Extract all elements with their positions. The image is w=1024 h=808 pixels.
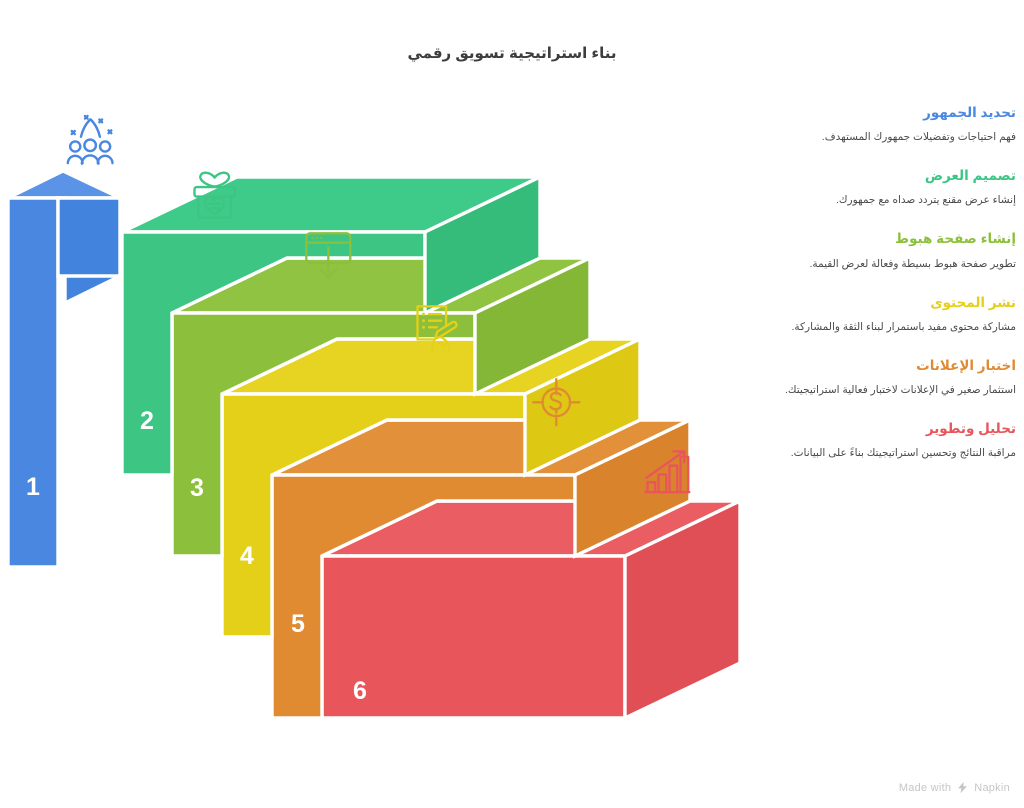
page-title: بناء استراتيجية تسويق رقمي [0, 44, 1024, 62]
bar-step-1-front-lower [8, 198, 58, 567]
bar-step-5-number: 5 [291, 610, 305, 638]
legend-title-1: تحديد الجمهور [758, 104, 1016, 122]
legend-item-5[interactable]: اختبار الإعلانات استثمار صغير في الإعلان… [758, 357, 1016, 399]
legend-description-1: فهم احتياجات وتفضيلات جمهورك المستهدف. [758, 129, 1016, 146]
bar-step-6-front [322, 556, 625, 718]
watermark-brand: Napkin [974, 782, 1010, 794]
legend-description-2: إنشاء عرض مقنع يتردد صداه مع جمهورك. [758, 192, 1016, 209]
bar-step-3-number: 3 [190, 474, 204, 502]
steps-legend-panel: تحديد الجمهور فهم احتياجات وتفضيلات جمهو… [758, 104, 1016, 462]
bar-step-1[interactable]: 1 [8, 171, 120, 567]
legend-description-4: مشاركة محتوى مفيد باستمرار لبناء الثقة و… [758, 319, 1016, 336]
bar-step-6[interactable]: 6 [322, 501, 740, 718]
legend-description-5: استثمار صغير في الإعلانات لاختبار فعالية… [758, 382, 1016, 399]
legend-title-4: نشر المحتوى [758, 294, 1016, 312]
legend-description-3: تطوير صفحة هبوط بسيطة وفعالة لعرض القيمة… [758, 256, 1016, 273]
watermark-prefix: Made with [899, 782, 951, 794]
legend-title-5: اختبار الإعلانات [758, 357, 1016, 375]
legend-item-1[interactable]: تحديد الجمهور فهم احتياجات وتفضيلات جمهو… [758, 104, 1016, 146]
audience-people-icon [68, 116, 113, 164]
napkin-watermark[interactable]: Made with Napkin [899, 781, 1010, 794]
legend-title-2: تصميم العرض [758, 167, 1016, 185]
legend-item-6[interactable]: تحليل وتطوير مراقبة النتائج وتحسين استرا… [758, 420, 1016, 462]
legend-item-2[interactable]: تصميم العرض إنشاء عرض مقنع يتردد صداه مع… [758, 167, 1016, 209]
infographic-canvas: بناء استراتيجية تسويق رقمي 6 5 [0, 0, 1024, 808]
legend-item-3[interactable]: إنشاء صفحة هبوط تطوير صفحة هبوط بسيطة وف… [758, 230, 1016, 272]
legend-description-6: مراقبة النتائج وتحسين استراتيجيتك بناءً … [758, 445, 1016, 462]
bar-step-6-number: 6 [353, 677, 367, 705]
napkin-logo-icon [956, 781, 969, 794]
legend-title-6: تحليل وتطوير [758, 420, 1016, 438]
legend-item-4[interactable]: نشر المحتوى مشاركة محتوى مفيد باستمرار ل… [758, 294, 1016, 336]
bar-step-1-side-extend [58, 198, 120, 276]
legend-title-3: إنشاء صفحة هبوط [758, 230, 1016, 248]
isometric-staircase-chart: 6 5 4 3 [0, 90, 740, 750]
bar-step-2-number: 2 [140, 407, 154, 435]
bar-step-1-number: 1 [26, 473, 40, 501]
bar-step-4-number: 4 [240, 542, 254, 570]
